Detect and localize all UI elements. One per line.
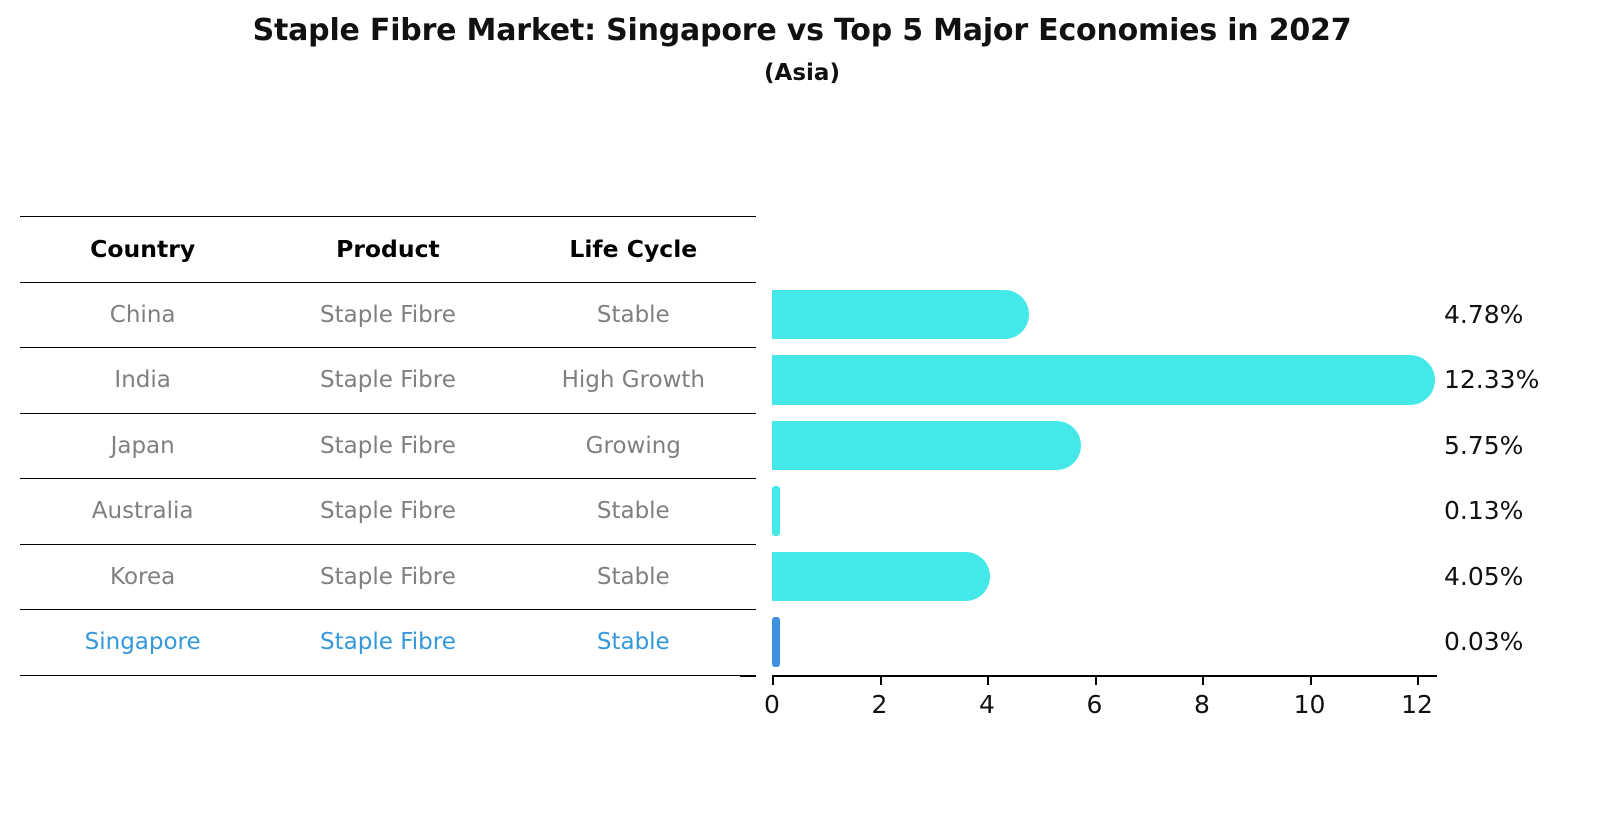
x-axis-tick-label: 10 <box>1294 690 1326 719</box>
cell-life-cycle: Stable <box>511 610 756 676</box>
column-header-product: Product <box>265 217 510 283</box>
table-row: China Staple Fibre Stable <box>20 282 756 348</box>
bar-value-label: 12.33% <box>1444 347 1539 413</box>
x-axis-line <box>772 675 1437 678</box>
bar-singapore <box>772 617 780 667</box>
cell-life-cycle: Stable <box>511 479 756 545</box>
bar-row: 0.03% <box>772 609 1437 675</box>
x-axis-tick-label: 0 <box>764 690 780 719</box>
cell-country: India <box>20 348 265 414</box>
chart-subtitle: (Asia) <box>0 60 1604 86</box>
table-row: Japan Staple Fibre Growing <box>20 413 756 479</box>
bar-australia <box>772 486 780 536</box>
cell-country: Japan <box>20 413 265 479</box>
table-row: Korea Staple Fibre Stable <box>20 544 756 610</box>
x-axis-tick <box>1095 675 1097 685</box>
x-axis-tick <box>1310 675 1312 685</box>
x-axis-tick-label: 4 <box>979 690 995 719</box>
bar-value-label: 5.75% <box>1444 413 1523 479</box>
x-axis-tick <box>772 675 774 685</box>
x-axis-tick-label: 6 <box>1087 690 1103 719</box>
cell-life-cycle: High Growth <box>511 348 756 414</box>
cell-country: Korea <box>20 544 265 610</box>
bar-korea <box>772 552 990 602</box>
cell-product: Staple Fibre <box>265 610 510 676</box>
title-block: Staple Fibre Market: Singapore vs Top 5 … <box>0 12 1604 86</box>
bar-row: 5.75% <box>772 413 1437 479</box>
axis-left-stub <box>740 675 756 677</box>
column-header-country: Country <box>20 217 265 283</box>
country-table-wrapper: Country Product Life Cycle China Staple … <box>20 216 756 676</box>
bar-plot: 4.78% 12.33% 5.75% 0.13% 4.05% 0.03% <box>772 282 1437 675</box>
cell-product: Staple Fibre <box>265 348 510 414</box>
bar-value-label: 0.13% <box>1444 478 1523 544</box>
table-body: China Staple Fibre Stable India Staple F… <box>20 282 756 675</box>
x-axis-tick <box>987 675 989 685</box>
bar-row: 12.33% <box>772 347 1437 413</box>
cell-product: Staple Fibre <box>265 479 510 545</box>
cell-life-cycle: Stable <box>511 544 756 610</box>
bar-value-label: 4.78% <box>1444 282 1523 348</box>
country-table: Country Product Life Cycle China Staple … <box>20 216 756 676</box>
cell-life-cycle: Stable <box>511 282 756 348</box>
x-axis-tick <box>1417 675 1419 685</box>
bar-row: 0.13% <box>772 478 1437 544</box>
x-axis-tick-label: 12 <box>1401 690 1433 719</box>
chart-figure: Staple Fibre Market: Singapore vs Top 5 … <box>0 0 1604 823</box>
table-row: Australia Staple Fibre Stable <box>20 479 756 545</box>
table-row: India Staple Fibre High Growth <box>20 348 756 414</box>
bar-value-label: 0.03% <box>1444 609 1523 675</box>
bar-row: 4.05% <box>772 544 1437 610</box>
cell-product: Staple Fibre <box>265 413 510 479</box>
bar-value-label: 4.05% <box>1444 544 1523 610</box>
table-row-highlighted: Singapore Staple Fibre Stable <box>20 610 756 676</box>
cell-country: Australia <box>20 479 265 545</box>
bar-china <box>772 290 1029 340</box>
cell-country: China <box>20 282 265 348</box>
x-axis-tick <box>1202 675 1204 685</box>
bar-row: 4.78% <box>772 282 1437 348</box>
cell-life-cycle: Growing <box>511 413 756 479</box>
page-title: Staple Fibre Market: Singapore vs Top 5 … <box>0 12 1604 50</box>
x-axis-tick-label: 2 <box>872 690 888 719</box>
table-header-row: Country Product Life Cycle <box>20 217 756 283</box>
x-axis-tick <box>880 675 882 685</box>
bar-japan <box>772 421 1081 471</box>
cell-product: Staple Fibre <box>265 544 510 610</box>
column-header-life-cycle: Life Cycle <box>511 217 756 283</box>
bar-india <box>772 355 1435 405</box>
cell-country: Singapore <box>20 610 265 676</box>
x-axis-tick-label: 8 <box>1194 690 1210 719</box>
cell-product: Staple Fibre <box>265 282 510 348</box>
table-header: Country Product Life Cycle <box>20 217 756 283</box>
